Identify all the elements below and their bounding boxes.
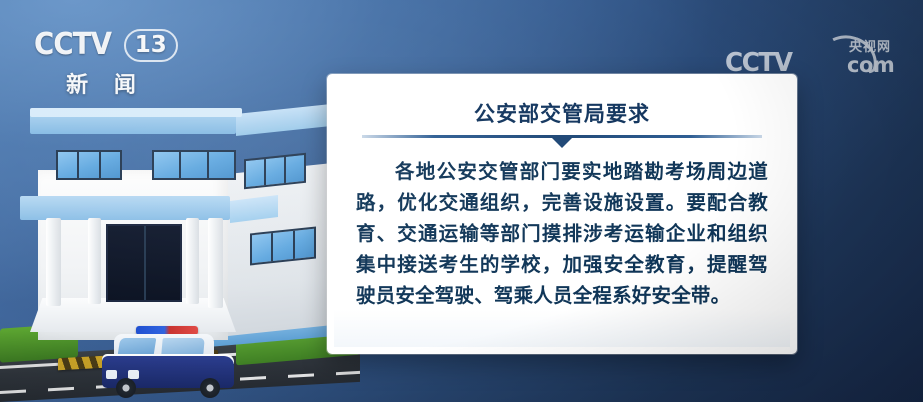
car-wheel-front <box>116 378 136 398</box>
car-windshield <box>118 338 157 355</box>
info-card-inner: 公安部交管局要求 各地公安交管部门要实地踏勘考场周边道路，优化交通组织，完善设施… <box>334 81 790 347</box>
channel-number-badge: 13 <box>124 29 178 62</box>
cctv-wordmark: CCTV <box>34 28 111 62</box>
pillar-1 <box>46 218 61 306</box>
car-wheel-rear <box>200 378 220 398</box>
card-title: 公安部交管局要求 <box>356 95 768 129</box>
com-label: com <box>847 53 894 77</box>
broadcast-screen: CCTV13 新 闻 CCTV 央视网 com 公安部交管局要求 各地公安交管部… <box>0 0 923 402</box>
pillar-3 <box>186 218 199 304</box>
roof-cap <box>30 108 242 117</box>
channel-name-label: 新 闻 <box>34 67 168 99</box>
pillar-4 <box>208 218 223 308</box>
entrance-canopy <box>20 196 230 220</box>
card-body-text: 各地公安交管部门要实地踏勘考场周边道路，优化交通组织，完善设施设置。要配合教育、… <box>356 156 768 311</box>
police-car <box>92 324 242 398</box>
chevron-down-icon <box>551 137 573 148</box>
pillar-2 <box>88 218 101 304</box>
window-upper-center <box>152 150 236 180</box>
entrance-door <box>106 224 182 302</box>
cctv13-channel-logo: CCTV13 新 闻 <box>34 28 184 100</box>
police-station-illustration <box>0 112 360 402</box>
title-divider <box>362 135 762 138</box>
info-card: 公安部交管局要求 各地公安交管部门要实地踏勘考场周边道路，优化交通组织，完善设施… <box>327 74 797 354</box>
car-headlamp-right <box>128 370 139 379</box>
window-upper-left <box>56 150 122 180</box>
car-headlamp-left <box>106 370 117 379</box>
car-rear-window <box>161 338 204 355</box>
